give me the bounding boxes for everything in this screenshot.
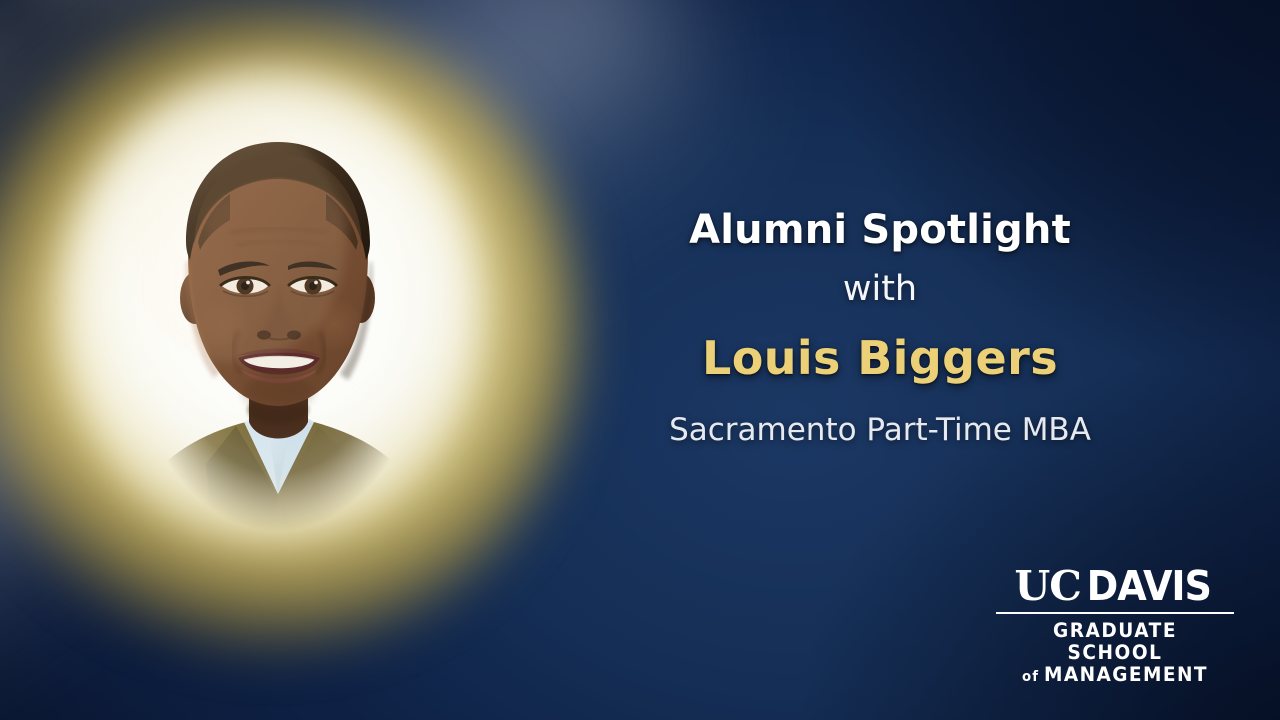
logo-uc-text: UC (1015, 566, 1081, 607)
title-text-block: Alumni Spotlight with Louis Biggers Sacr… (592, 210, 1168, 446)
logo-management-row: of MANAGEMENT (1002, 664, 1228, 686)
connector-label: with (592, 272, 1168, 307)
program-label: Sacramento Part-Time MBA (592, 415, 1168, 446)
title-card-slide: Alumni Spotlight with Louis Biggers Sacr… (0, 0, 1280, 720)
logo-wordmark-row: UC DAVIS (996, 566, 1234, 607)
logo-of-text: of (1022, 670, 1039, 686)
logo-divider-rule (996, 612, 1234, 614)
logo-graduate-school-text: GRADUATE SCHOOL (1002, 620, 1228, 664)
uc-davis-gsm-logo: UC DAVIS GRADUATE SCHOOL of MANAGEMENT (996, 566, 1234, 685)
person-name: Louis Biggers (592, 335, 1168, 381)
logo-davis-text: DAVIS (1087, 566, 1211, 607)
logo-management-text: MANAGEMENT (1044, 664, 1208, 686)
portrait-photo (118, 92, 438, 542)
page-title: Alumni Spotlight (592, 210, 1168, 250)
